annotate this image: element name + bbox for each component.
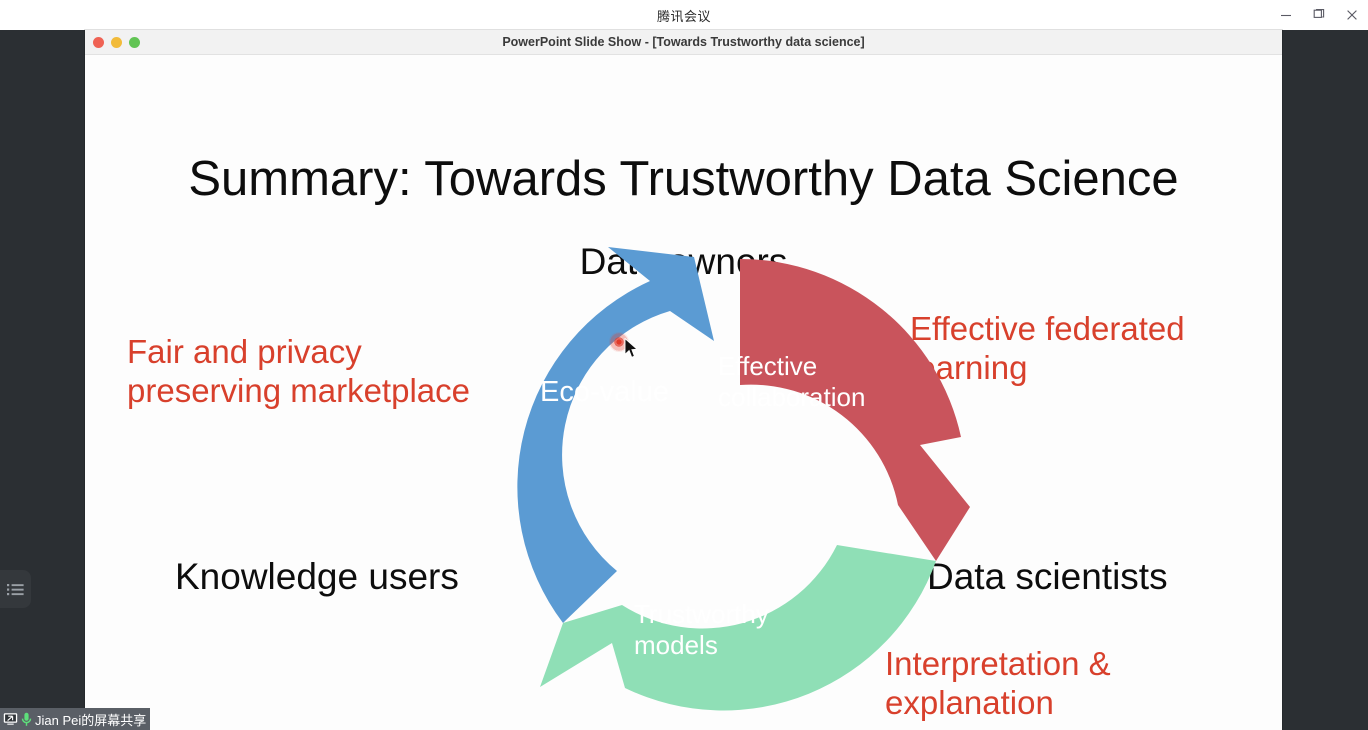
cycle-label-eco-value: Eco-value xyxy=(540,375,669,410)
cycle-segment-blue-shape xyxy=(517,247,714,623)
traffic-light-group xyxy=(93,30,140,55)
label-knowledge-users: Knowledge users xyxy=(175,555,459,599)
cycle-label-trustworthy-models: Trustworthy models xyxy=(634,599,769,661)
minimize-button[interactable] xyxy=(1269,0,1302,30)
cycle-diagram: Eco-value Effective collaboration Trustw… xyxy=(500,245,980,715)
close-button[interactable] xyxy=(1335,0,1368,30)
meeting-window-titlebar: 腾讯会议 xyxy=(0,0,1368,30)
restore-button[interactable] xyxy=(1302,0,1335,30)
slide-canvas: Summary: Towards Trustworthy Data Scienc… xyxy=(85,55,1282,730)
powerpoint-titlebar: PowerPoint Slide Show - [Towards Trustwo… xyxy=(85,30,1282,55)
taskbar: Jian Pei的屏幕共享 xyxy=(0,708,1368,730)
screen-share-icon xyxy=(3,712,18,726)
cycle-label-effective-collaboration: Effective collaboration xyxy=(718,351,865,413)
label-fair-and-privacy-marketplace: Fair and privacy preserving marketplace xyxy=(127,333,547,411)
screen-share-label: Jian Pei的屏幕共享 xyxy=(35,710,146,729)
powerpoint-slideshow-window: PowerPoint Slide Show - [Towards Trustwo… xyxy=(85,30,1282,730)
meeting-window-title: 腾讯会议 xyxy=(657,6,711,25)
traffic-light-minimize-icon[interactable] xyxy=(111,37,122,48)
powerpoint-window-title: PowerPoint Slide Show - [Towards Trustwo… xyxy=(502,35,864,49)
window-controls xyxy=(1269,0,1368,30)
slide-title: Summary: Towards Trustworthy Data Scienc… xyxy=(85,151,1282,207)
mouse-cursor-icon xyxy=(624,338,638,359)
traffic-light-close-icon[interactable] xyxy=(93,37,104,48)
sidebar-toggle-tab[interactable] xyxy=(0,570,31,608)
screen-root: 腾讯会议 xyxy=(0,0,1368,730)
screen-share-indicator[interactable]: Jian Pei的屏幕共享 xyxy=(0,708,150,730)
microphone-icon xyxy=(21,712,32,727)
list-icon xyxy=(7,583,24,596)
traffic-light-maximize-icon[interactable] xyxy=(129,37,140,48)
